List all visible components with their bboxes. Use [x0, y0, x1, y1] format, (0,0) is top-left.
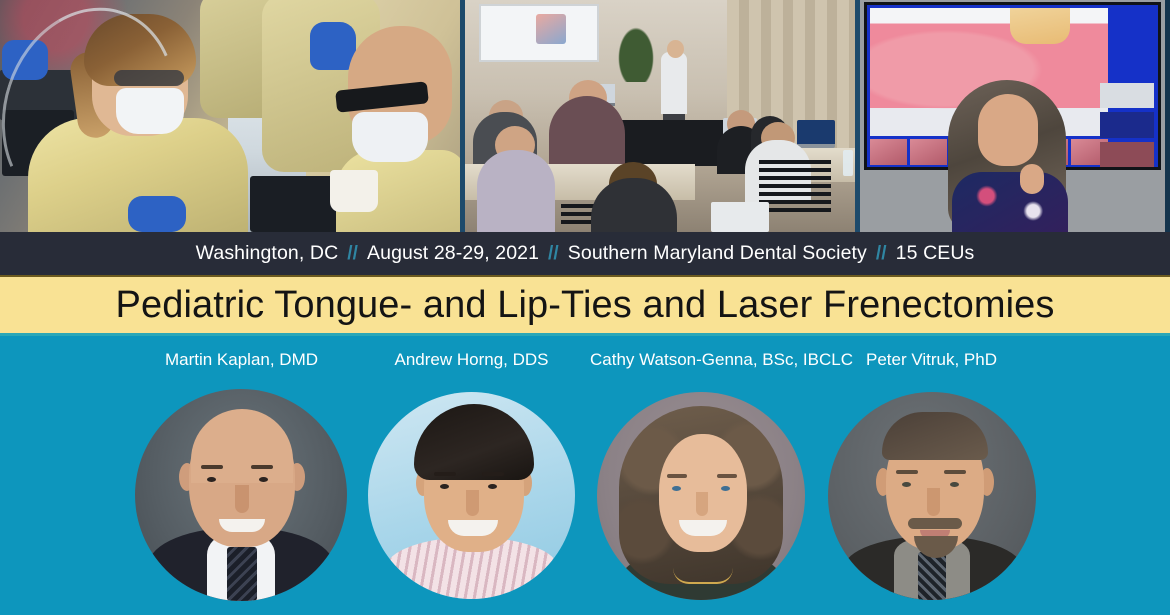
- event-dates: August 28-29, 2021: [367, 242, 539, 265]
- slide-side-panel: [1100, 83, 1154, 108]
- event-host: Southern Maryland Dental Society: [568, 242, 867, 265]
- avatar-brow-right: [482, 472, 504, 476]
- clinic-blue-glove-1: [128, 196, 186, 232]
- avatar-nose: [235, 485, 249, 513]
- slide-thumb: [870, 139, 907, 165]
- lecture-chair-2: [759, 160, 831, 212]
- presenter-slide-side-panels: [1100, 83, 1154, 167]
- presenter-face: [978, 94, 1038, 166]
- presenter-hand: [1020, 164, 1044, 194]
- slide-thumb: [910, 139, 947, 165]
- avatar-andrew-horng: [368, 392, 575, 599]
- avatar-eye-right: [259, 477, 268, 482]
- lecture-laptop-2: [797, 120, 835, 148]
- course-title-band: Pediatric Tongue- and Lip-Ties and Laser…: [0, 277, 1170, 336]
- avatar-tie: [227, 547, 257, 601]
- avatar-eye-left: [440, 484, 449, 489]
- avatar-eye-left: [672, 486, 681, 491]
- slide-side-panel: [1100, 112, 1154, 137]
- avatar-peter-vitruk: [828, 392, 1036, 600]
- avatar-brow-left: [434, 472, 456, 476]
- speaker-names-row: Martin Kaplan, DMD Andrew Horng, DDS Cat…: [0, 350, 1170, 376]
- event-credits: 15 CEUs: [896, 242, 975, 265]
- avatar-eye-right: [950, 482, 959, 487]
- avatar-brow-left: [201, 465, 223, 469]
- avatar-moustache: [908, 518, 962, 529]
- avatar-nose: [466, 490, 479, 516]
- avatar-brow-left: [667, 474, 687, 478]
- avatar-nose: [696, 492, 708, 516]
- photo-presenter-with-infant-slide: [860, 0, 1165, 232]
- clinic-paper-cup: [330, 170, 378, 212]
- avatar-brow-right: [944, 470, 966, 474]
- separator-icon: //: [347, 243, 358, 265]
- lecture-presenter-head: [667, 40, 684, 58]
- avatar-cathy-watson-genna: [597, 392, 805, 600]
- lecture-plant: [615, 22, 657, 82]
- event-location: Washington, DC: [196, 242, 339, 265]
- photo-clinical-hands-on-training: [0, 0, 460, 232]
- avatar-brow-left: [896, 470, 918, 474]
- lecture-projection-screen: [479, 4, 599, 62]
- speaker-name-2: Cathy Watson-Genna, BSc, IBCLC: [590, 350, 812, 370]
- avatar-tie: [918, 552, 946, 600]
- separator-icon: //: [548, 243, 559, 265]
- event-poster: Washington, DC // August 28-29, 2021 // …: [0, 0, 1170, 615]
- avatar-necklace: [673, 568, 733, 584]
- avatar-eye-right: [721, 486, 730, 491]
- photo-lecture-audience: [460, 0, 860, 232]
- avatar-eye-left: [902, 482, 911, 487]
- event-info-band: Washington, DC // August 28-29, 2021 // …: [0, 232, 1170, 277]
- avatar-martin-kaplan: [135, 389, 347, 601]
- separator-icon: //: [876, 243, 887, 265]
- avatar-brow-right: [251, 465, 273, 469]
- event-info-line: Washington, DC // August 28-29, 2021 // …: [196, 242, 975, 265]
- lecture-attendee-3: [477, 150, 555, 232]
- lecture-laptop-3: [711, 202, 769, 232]
- lecture-presenter-body: [661, 52, 687, 114]
- avatar-brow-right: [717, 474, 737, 478]
- speaker-name-1: Andrew Horng, DDS: [368, 350, 575, 370]
- avatar-nose: [927, 488, 940, 516]
- avatar-smile: [219, 519, 265, 532]
- page-title: Pediatric Tongue- and Lip-Ties and Laser…: [116, 284, 1055, 327]
- lecture-water-bottle: [843, 150, 853, 176]
- speakers-section: Martin Kaplan, DMD Andrew Horng, DDS Cat…: [0, 336, 1170, 615]
- clinic-dentist-mask: [352, 112, 428, 162]
- slide-side-panel: [1100, 142, 1154, 167]
- lecture-attendee-2: [549, 96, 625, 172]
- presenter-floral-top: [952, 172, 1068, 232]
- avatar-eye-right: [488, 484, 497, 489]
- speaker-name-0: Martin Kaplan, DMD: [135, 350, 348, 370]
- speaker-name-3: Peter Vitruk, PhD: [828, 350, 1035, 370]
- photo-strip: [0, 0, 1170, 232]
- avatar-eye-left: [207, 477, 216, 482]
